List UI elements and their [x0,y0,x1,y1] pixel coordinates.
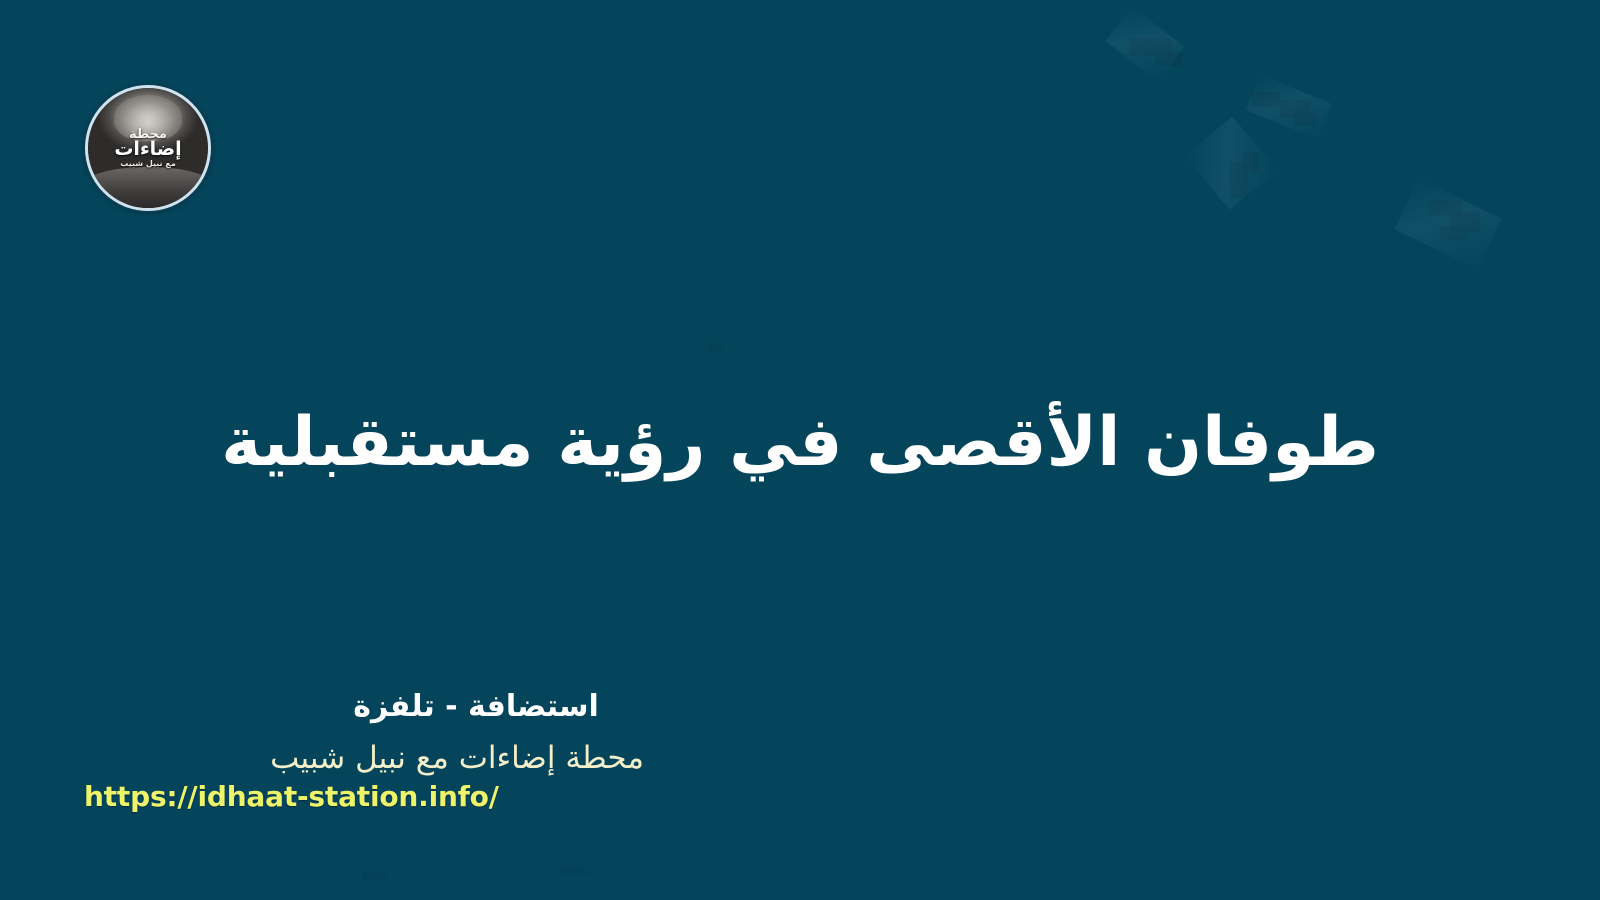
credits-block: استضافة - تلفزة محطة إضاءات مع نبيل شبيب… [84,688,644,813]
logo-line-idhaat: إضاءات [114,140,181,160]
logo-line-with-host: مع نبيل شبيب [120,160,176,168]
main-title-text: طوفان الأقصى في رؤية مستقبلية [221,406,1379,481]
credit-host-line: استضافة - تلفزة [308,688,644,726]
title-card-slide: محطة إضاءات مع نبيل شبيب طوفان الأقصى في… [0,0,1600,900]
logo-text-overlay: محطة إضاءات مع نبيل شبيب [88,88,208,208]
station-url-link[interactable]: https://idhaat-station.info/ [84,781,644,813]
station-logo[interactable]: محطة إضاءات مع نبيل شبيب [85,85,211,211]
main-title: طوفان الأقصى في رؤية مستقبلية [0,388,1600,498]
credit-station-line: محطة إضاءات مع نبيل شبيب [229,740,644,777]
